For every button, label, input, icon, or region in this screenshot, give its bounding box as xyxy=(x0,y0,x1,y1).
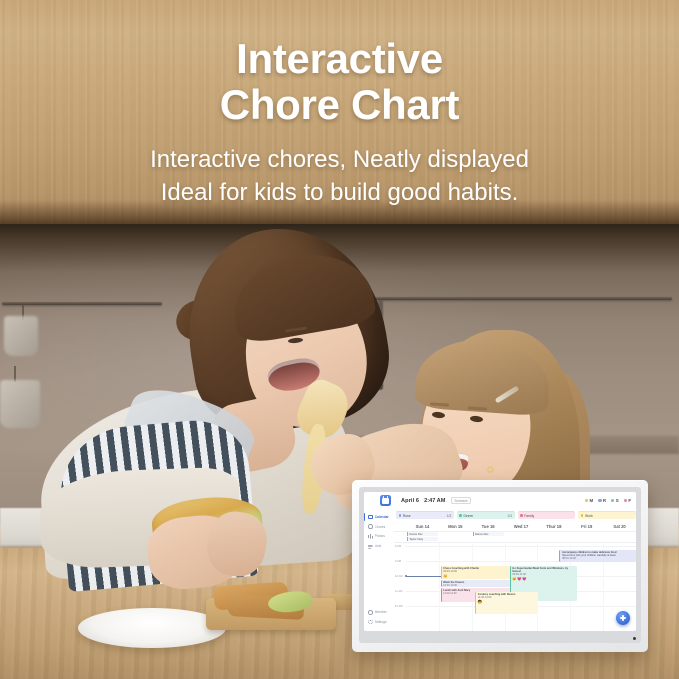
member-dot-icon xyxy=(611,499,614,502)
event-time: 11:00-12:00 xyxy=(478,596,537,599)
subtitle-line-1: Interactive chores, Neatly displayed xyxy=(150,146,529,173)
hanging-cup xyxy=(0,380,40,428)
week-day-header: Sun 14 Mon 15 Tue 16 Wed 17 Thur 18 Fri … xyxy=(394,521,636,532)
calendar-time-grid[interactable]: 8 AM 9 AM 10 AM 11 AM 12 PM xyxy=(394,543,636,632)
calendar-icon xyxy=(380,495,391,506)
sidebar-item-label: Settings xyxy=(375,620,387,624)
all-day-chip[interactable]: Dance Rec xyxy=(407,532,438,536)
chore-category-bar-row: Rose 1/3 Dinner 1/3 Family xyxy=(394,509,636,521)
sidebar-item-photos[interactable]: Photos xyxy=(364,532,394,542)
kitchen-rail-left xyxy=(2,302,162,305)
chore-category-label: Dinner xyxy=(463,514,473,518)
event-emoji: 🧒 xyxy=(478,600,537,604)
legend-item[interactable]: M xyxy=(585,498,593,503)
legend-item[interactable]: F xyxy=(624,498,631,503)
category-dot-icon xyxy=(581,514,584,517)
hanging-cup xyxy=(4,316,38,356)
member-legend: M R S F xyxy=(585,498,631,503)
sidebar-item-member[interactable]: Member xyxy=(364,607,394,617)
all-day-cell[interactable] xyxy=(570,532,603,542)
member-dot-icon xyxy=(624,499,627,502)
chore-category-label: Rose xyxy=(403,514,411,518)
person-icon xyxy=(368,610,373,615)
day-column-header[interactable]: Thur 18 xyxy=(537,521,570,531)
event-emoji: 🐱💗💗 xyxy=(512,577,576,581)
calendar-event[interactable]: Accompany children to make delicious foo… xyxy=(559,550,636,562)
current-date: April 6 xyxy=(401,498,419,504)
chore-category-rose[interactable]: Rose 1/3 xyxy=(396,511,454,519)
all-day-cell[interactable] xyxy=(505,532,538,542)
sidebar-item-lists[interactable]: Lists xyxy=(364,541,394,551)
day-column-header[interactable]: Fri 19 xyxy=(570,521,603,531)
member-dot-icon xyxy=(585,499,588,502)
product-poster: Interactive Chore Chart Interactive chor… xyxy=(0,0,679,679)
chore-category-family[interactable]: Family xyxy=(518,511,576,519)
chore-category-dinner[interactable]: Dinner 1/3 xyxy=(457,511,515,519)
all-day-cell[interactable]: Dance Rec Taylor bday xyxy=(406,532,439,542)
calendar-event[interactable]: Wash the flowers 10:00-10:30 xyxy=(441,580,511,587)
white-plate xyxy=(78,608,226,648)
tablet-bezel: April 6 2:47 AM Schedule M R xyxy=(359,487,641,643)
legend-item[interactable]: R xyxy=(598,498,606,503)
legend-label: R xyxy=(603,498,606,503)
all-day-cell[interactable] xyxy=(603,532,636,542)
current-time: 2:47 AM xyxy=(424,498,445,504)
chart-icon xyxy=(368,534,373,539)
time-label: 8 AM xyxy=(395,545,401,548)
time-label: 12 PM xyxy=(395,605,403,608)
all-day-cell[interactable] xyxy=(439,532,472,542)
day-column-header[interactable]: Wed 17 xyxy=(505,521,538,531)
member-dot-icon xyxy=(598,499,601,502)
chore-progress-count: 1/3 xyxy=(447,514,452,518)
event-time: 10:00-10:30 xyxy=(443,584,509,586)
legend-label: S xyxy=(616,498,619,503)
chore-category-label: Family xyxy=(524,514,534,518)
list-icon xyxy=(368,544,373,549)
time-label: 10 AM xyxy=(395,575,403,578)
page-subtitle: Interactive chores, Neatly displayed Ide… xyxy=(0,143,679,209)
chore-category-label: Work xyxy=(585,514,593,518)
event-title: Go Supermarket Meat Farm and Windows, by… xyxy=(512,567,576,573)
day-column-header[interactable]: Sat 20 xyxy=(603,521,636,531)
chore-progress-count: 1/3 xyxy=(507,514,512,518)
sidebar-item-label: Member xyxy=(375,610,387,614)
view-selector[interactable]: Schedule xyxy=(451,497,470,505)
all-day-chip[interactable]: Dance Rec xyxy=(473,532,504,536)
day-column-header[interactable]: Tue 16 xyxy=(472,521,505,531)
sidebar-item-label: Chores xyxy=(375,525,386,529)
category-dot-icon xyxy=(520,514,523,517)
page-title: Interactive Chore Chart xyxy=(0,38,679,126)
category-dot-icon xyxy=(459,514,462,517)
home-icon xyxy=(368,524,373,529)
app-top-bar: April 6 2:47 AM Schedule M R xyxy=(364,492,636,509)
calendar-event[interactable]: Cookery coaching with Steven 11:00-12:00… xyxy=(475,592,538,614)
sidebar-item-chores[interactable]: Chores xyxy=(364,522,394,532)
chore-category-work[interactable]: Work xyxy=(578,511,636,519)
event-time: 08:00-10:00 xyxy=(562,557,636,560)
kitchen-rail-right xyxy=(352,297,672,300)
sidebar-item-label: Calendar xyxy=(375,515,389,519)
all-day-cell[interactable] xyxy=(537,532,570,542)
day-column-header[interactable]: Sun 14 xyxy=(406,521,439,531)
headline-line-2: Chore Chart xyxy=(0,84,679,126)
app-body: Calendar Chores Photos Lists xyxy=(364,509,636,631)
calendar-icon xyxy=(368,515,373,520)
calendar-event[interactable]: Chess Coaching with Charlie 09:00-10:00 … xyxy=(441,566,511,580)
tablet-screen: April 6 2:47 AM Schedule M R xyxy=(364,492,636,631)
category-dot-icon xyxy=(399,514,402,517)
gear-icon xyxy=(368,620,373,625)
tablet-device: April 6 2:47 AM Schedule M R xyxy=(352,480,648,652)
time-label: 9 AM xyxy=(395,560,401,563)
legend-label: F xyxy=(628,498,631,503)
legend-label: M xyxy=(589,498,593,503)
all-day-cell[interactable]: Dance Rec xyxy=(472,532,505,542)
event-time: 09:00-10:00 xyxy=(443,570,509,573)
child-earring xyxy=(487,466,494,473)
app-sidebar: Calendar Chores Photos Lists xyxy=(364,509,394,631)
sidebar-item-settings[interactable]: Settings xyxy=(364,617,394,627)
sidebar-item-calendar[interactable]: Calendar xyxy=(364,512,394,522)
time-label: 11 AM xyxy=(395,590,402,593)
subtitle-line-2: Ideal for kids to build good habits. xyxy=(0,176,679,209)
all-day-row: Dance Rec Taylor bday Dance Rec xyxy=(394,532,636,543)
add-event-fab[interactable] xyxy=(616,611,630,625)
sidebar-item-label: Lists xyxy=(375,544,382,548)
headline-line-1: Interactive xyxy=(236,35,443,82)
day-column-header[interactable]: Mon 15 xyxy=(439,521,472,531)
event-emoji: 👑 xyxy=(443,574,509,578)
calendar-content: Rose 1/3 Dinner 1/3 Family xyxy=(394,509,636,631)
all-day-chip[interactable]: Taylor bday xyxy=(407,537,438,541)
time-axis: 8 AM 9 AM 10 AM 11 AM 12 PM xyxy=(394,543,406,632)
legend-item[interactable]: S xyxy=(611,498,619,503)
sidebar-item-label: Photos xyxy=(375,534,385,538)
sidebar-spacer xyxy=(364,551,394,607)
status-led xyxy=(633,637,636,640)
